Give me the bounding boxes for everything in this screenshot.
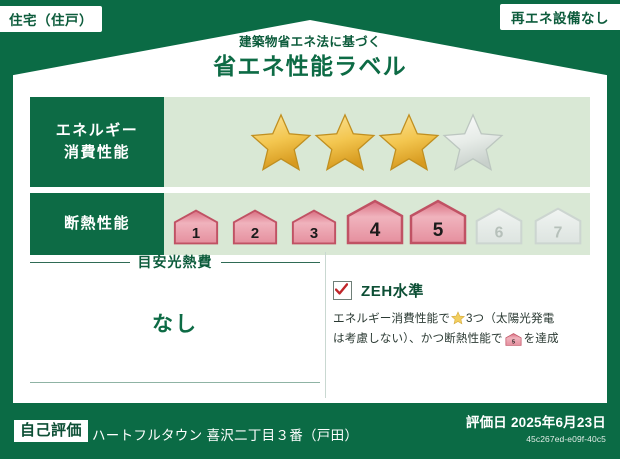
label-heading: 建築物省エネ法に基づく 省エネ性能ラベル [0,36,620,78]
page-title: 省エネ性能ラベル [0,55,620,78]
zeh-desc-part1: エネルギー消費性能で [333,312,450,325]
insulation-grade-scale: 1234567 [168,199,586,249]
zeh-title-line: ZEH水準 [333,280,598,301]
row-energy-label-line1: エネルギー [56,120,139,142]
utility-cost-panel: 目安光熱費 なし [30,252,320,338]
svg-text:5: 5 [512,339,515,345]
evaluation-block: 評価日 2025年6月23日 45c267ed-e09f-40c5 [466,416,606,444]
row-insulation-label: 断熱性能 [30,193,164,255]
insulation-grade-badge-off: 6 [471,207,527,245]
row-energy-label: エネルギー 消費性能 [30,97,164,187]
svg-text:5: 5 [433,220,444,241]
insulation-grade-badge-inline-icon: 5 [505,333,522,346]
tag-dwelling-type: 住宅（住戸） [0,6,102,32]
star-icon-empty [442,111,504,173]
zeh-description: エネルギー消費性能で3つ（太陽光発電 は考慮しない）、かつ断熱性能で5を達成 [333,309,598,353]
svg-text:7: 7 [554,225,563,242]
rule-right [221,262,321,263]
evaluation-date: 評価日 2025年6月23日 [466,416,606,431]
zeh-desc-star-count: 3つ（太陽光発電 [466,312,554,325]
row-energy-performance: エネルギー 消費性能 [30,97,590,187]
zeh-title: ZEH水準 [361,280,424,301]
insulation-grade-badge-off: 7 [530,207,586,245]
evaluation-date-label: 評価日 [466,415,507,430]
star-icon-filled [250,111,312,173]
insulation-grade-badge-on: 1 [168,209,224,245]
zeh-desc-part2: は考慮しない）、かつ断熱性能で [333,332,503,345]
insulation-grade-badge-on: 3 [286,209,342,245]
utility-cost-heading: 目安光熱費 [30,252,320,272]
panel-divider [325,252,326,398]
rule-left [30,262,130,263]
tag-renewable-equipment: 再エネ設備なし [500,4,620,30]
utility-cost-title: 目安光熱費 [138,252,213,272]
insulation-grade-badge-on: 4 [345,199,405,245]
property-name: ハートフルタウン 喜沢二丁目３番（戸田） [92,424,358,444]
energy-performance-label: 住宅（住戸） 再エネ設備なし 建築物省エネ法に基づく 省エネ性能ラベル エネルギ… [0,0,620,459]
insulation-grade-badge-on: 5 [408,199,468,245]
evaluation-code: 45c267ed-e09f-40c5 [466,434,606,444]
row-energy-value [164,97,590,187]
svg-text:4: 4 [370,220,381,241]
evaluation-date-value: 2025年6月23日 [511,415,606,430]
star-icon-filled [314,111,376,173]
performance-rows: エネルギー 消費性能 断熱性能 1234567 [30,97,590,261]
row-insulation-label-line1: 断熱性能 [64,213,130,235]
utility-cost-bottom-rule [30,382,320,383]
star-rating [250,111,504,173]
star-icon-filled [378,111,440,173]
row-insulation-performance: 断熱性能 1234567 [30,193,590,255]
tag-self-assessment: 自己評価 [14,420,88,442]
label-footer: 自己評価 ハートフルタウン 喜沢二丁目３番（戸田） 評価日 2025年6月23日… [0,403,620,459]
row-insulation-value: 1234567 [164,193,590,255]
svg-text:2: 2 [251,226,259,242]
row-energy-label-line2: 消費性能 [64,142,130,164]
star-icon [451,311,465,325]
heading-subtitle: 建築物省エネ法に基づく [0,36,620,49]
insulation-grade-badge-on: 2 [227,209,283,245]
zeh-desc-part3: を達成 [524,332,559,345]
utility-cost-value: なし [30,308,320,338]
svg-text:6: 6 [495,225,504,242]
svg-text:1: 1 [192,226,200,242]
insulation-grade-badge-inline: 5 [505,336,522,349]
zeh-checkbox [333,281,352,300]
zeh-panel: ZEH水準 エネルギー消費性能で3つ（太陽光発電 は考慮しない）、かつ断熱性能で… [333,280,598,353]
svg-text:3: 3 [310,226,318,242]
check-icon [335,283,348,296]
